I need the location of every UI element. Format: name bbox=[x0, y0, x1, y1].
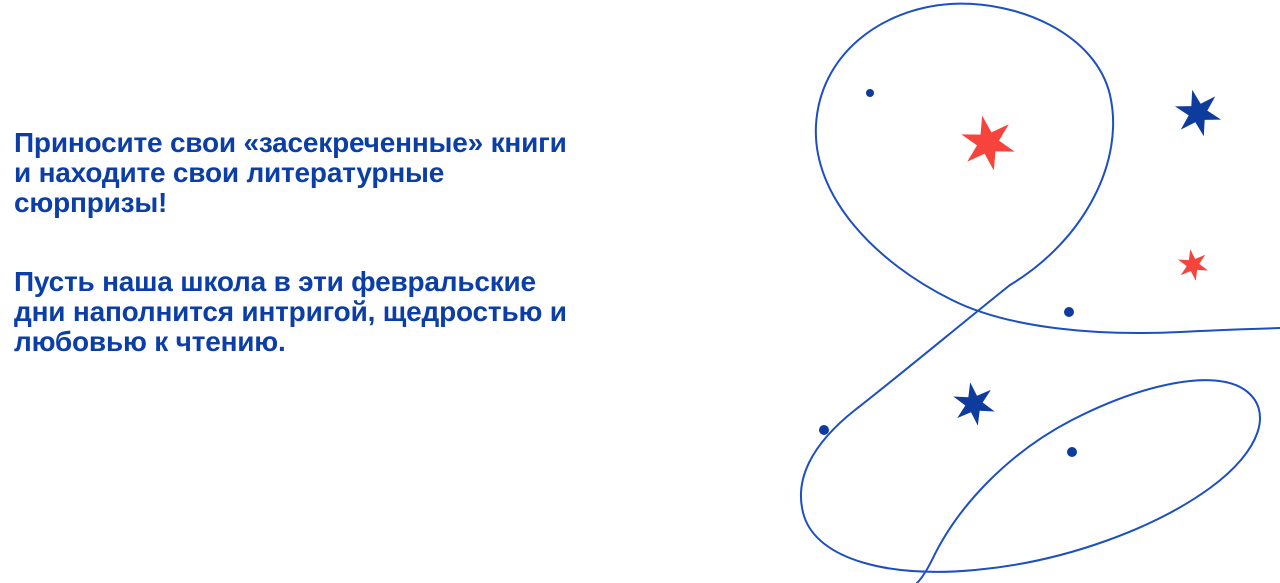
star-blue-large bbox=[1175, 90, 1221, 137]
star-blue-medium-icon bbox=[953, 382, 994, 425]
swirl-upper-loop-path bbox=[816, 4, 1280, 333]
node-dot-lower-right bbox=[1067, 447, 1077, 457]
star-red-large bbox=[961, 116, 1014, 171]
node-dot-mid-right bbox=[1064, 307, 1074, 317]
swirl-lower-loop-path bbox=[801, 285, 1260, 583]
star-blue-large-icon bbox=[1175, 90, 1221, 137]
node-dot-lower-left bbox=[819, 425, 829, 435]
node-dot-upper-left bbox=[866, 89, 874, 97]
star-red-small bbox=[1178, 249, 1208, 281]
star-red-small-icon bbox=[1178, 249, 1208, 281]
message-text-block: Приносите свои «засекреченные» книги и н… bbox=[14, 128, 804, 357]
poster-canvas: Приносите свои «засекреченные» книги и н… bbox=[0, 0, 1280, 583]
message-paragraph-2: Пусть наша школа в эти февральские дни н… bbox=[14, 267, 804, 357]
message-paragraph-1: Приносите свои «засекреченные» книги и н… bbox=[14, 128, 804, 218]
star-blue-medium bbox=[953, 382, 994, 425]
star-red-large-icon bbox=[961, 116, 1014, 171]
